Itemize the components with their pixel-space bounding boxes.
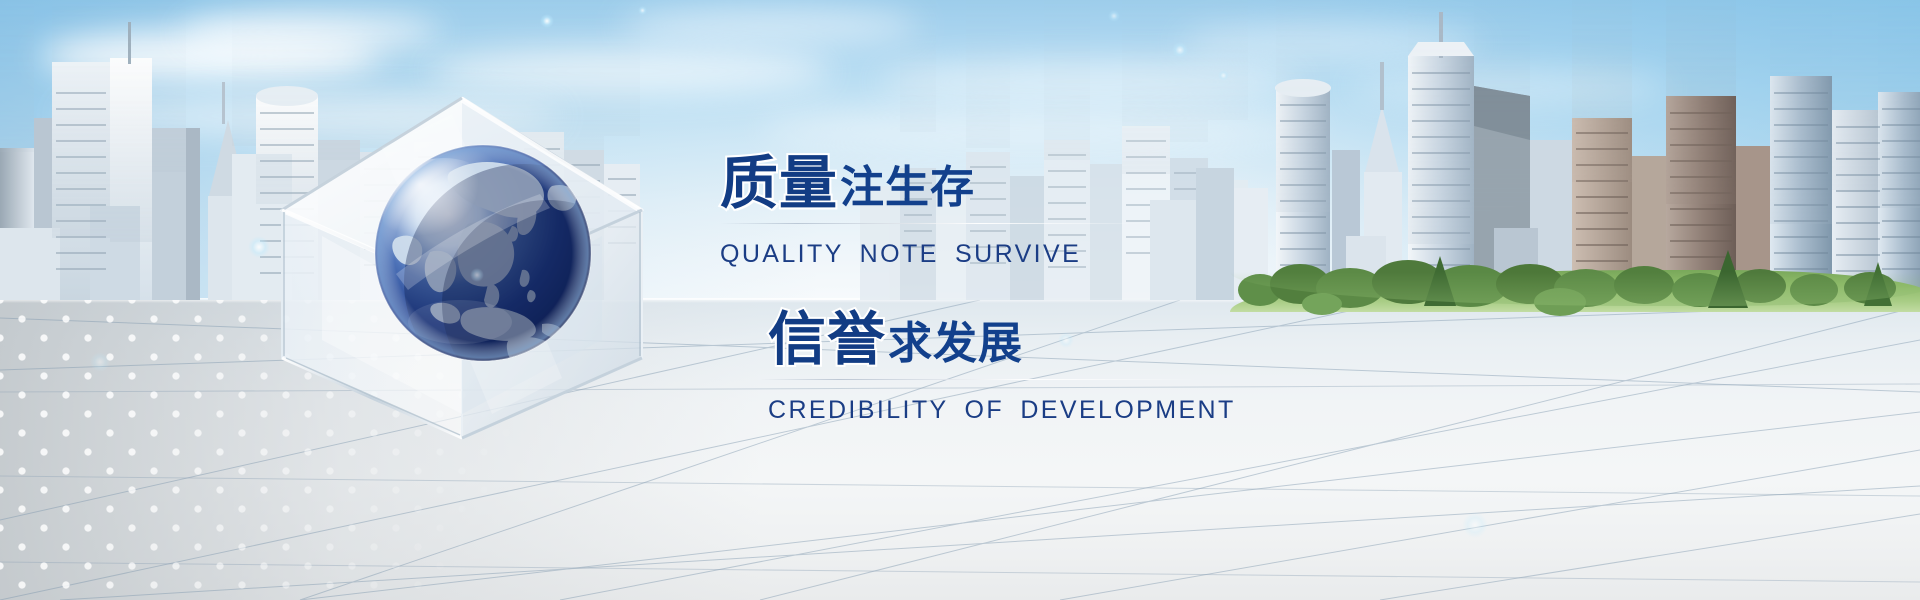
hero-banner: 质量 注生存 QUALITY NOTE SURVIVE 信誉 求发展 CREDI… — [0, 0, 1920, 600]
headline-credibility-large: 信誉 — [768, 311, 886, 369]
headline-quality-small: 注生存 — [840, 166, 975, 213]
slogan-block-quality: 质量 注生存 QUALITY NOTE SURVIVE — [720, 155, 1240, 269]
blue-earth-globe — [372, 142, 594, 364]
headline-credibility: 信誉 求发展 — [768, 311, 1240, 369]
headline-credibility-small: 求发展 — [888, 322, 1023, 369]
subtitle-quality: QUALITY NOTE SURVIVE — [720, 240, 1240, 269]
headline-quality-large: 质量 — [720, 155, 838, 213]
subtitle-credibility: CREDIBILITY OF DEVELOPMENT — [768, 396, 1240, 425]
slogan-block-credibility: 信誉 求发展 CREDIBILITY OF DEVELOPMENT — [720, 311, 1240, 425]
headline-quality: 质量 注生存 — [720, 155, 1240, 213]
divider-rule-quality — [720, 223, 1150, 224]
divider-rule-credibility — [760, 379, 1200, 380]
slogan-copy-block: 质量 注生存 QUALITY NOTE SURVIVE 信誉 求发展 CREDI… — [720, 155, 1240, 425]
